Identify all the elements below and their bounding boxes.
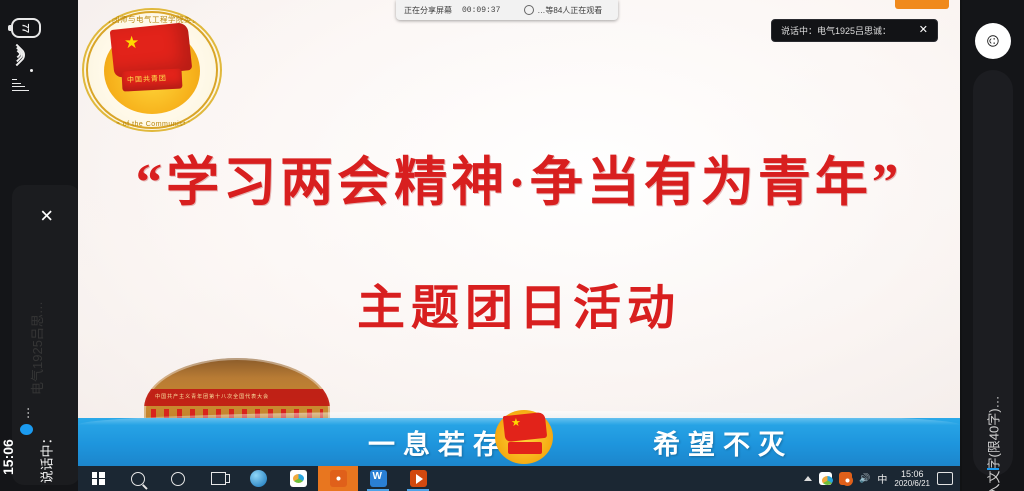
powerpoint-button[interactable]	[398, 466, 438, 491]
windows-logo-icon	[92, 472, 105, 485]
speaking-toast[interactable]: 说话中：电气1925吕思诚： ✕	[771, 19, 938, 42]
taskbar-clock[interactable]: 15:06 2020/6/21	[894, 469, 930, 489]
shared-screen-slide: 共青团师与电气工程学院委员会 ★ 中国共青团 Committee of the …	[78, 0, 960, 466]
security-icon[interactable]	[839, 472, 852, 485]
cyl-emblem-logo: 共青团师与电气工程学院委员会 ★ 中国共青团 Committee of the …	[82, 8, 222, 132]
cortana-button[interactable]	[158, 466, 198, 491]
task-view-button[interactable]	[198, 466, 238, 491]
task-view-icon	[211, 472, 226, 485]
emblem-chinese-arc-text: 共青团师与电气工程学院委员会	[82, 14, 222, 25]
slide-bottom-banner: 一息若存 ★ 希望不灭	[78, 418, 960, 466]
comment-input[interactable]: 输入文字(限40字)…	[973, 70, 1013, 476]
screen-root: 77 ✕ 说话中： ⋯ 15:06 电气1925吕思… 共青团师与电气工程学院委…	[0, 0, 1024, 491]
wifi-icon	[10, 48, 36, 74]
banner-right-text: 希望不灭	[653, 423, 793, 462]
more-dots-icon: ⋯	[21, 405, 35, 419]
meeting-app-button[interactable]	[318, 466, 358, 491]
sharing-status-label: 正在分享屏幕	[404, 5, 452, 16]
phone-status-icons: 77	[2, 8, 46, 118]
speaking-toast-text: 说话中：电气1925吕思诚：	[781, 24, 891, 37]
emoji-smiley-icon[interactable]: ☺	[975, 23, 1011, 59]
emblem-banner: 中国共青团	[122, 68, 183, 91]
powerpoint-icon	[410, 470, 427, 487]
screen-share-toolbar[interactable]: 正在分享屏幕 00:09:37 …等84人正在观看	[396, 0, 618, 20]
cortana-circle-icon	[171, 472, 185, 486]
start-button[interactable]	[78, 466, 118, 491]
meeting-app-icon	[330, 470, 347, 487]
search-icon	[131, 472, 145, 486]
photo-red-banner: 中国共产主义青年团第十八次全国代表大会	[144, 389, 330, 407]
comment-input-placeholder: 输入文字(限40字)…	[984, 395, 1003, 491]
right-input-rail: ☺ 输入文字(限40字)…	[962, 0, 1024, 491]
toolbar-action-button[interactable]	[895, 0, 949, 9]
emblem-banner-text: 中国共青团	[127, 73, 167, 85]
taskbar-time: 15:06	[894, 469, 930, 479]
viewers-indicator[interactable]: …等84人正在观看	[524, 5, 602, 16]
chevron-up-icon[interactable]	[804, 476, 812, 481]
search-button[interactable]	[118, 466, 158, 491]
close-icon[interactable]: ✕	[919, 25, 928, 36]
ime-indicator[interactable]: 中	[877, 471, 887, 486]
banner-emblem-icon: ★	[495, 410, 553, 464]
share-timer: 00:09:37	[462, 6, 500, 15]
volume-icon[interactable]: 🔊	[859, 473, 870, 484]
windows-taskbar: 🔊 中 15:06 2020/6/21	[78, 466, 960, 491]
taskbar-date: 2020/6/21	[894, 479, 930, 489]
battery-level: 77	[21, 23, 31, 32]
avatar	[524, 5, 534, 15]
slide-headline: “学习两会精神·争当有为青年”	[78, 140, 960, 216]
cloud-icon[interactable]	[819, 472, 832, 485]
left-status-rail: 77 ✕ 说话中： ⋯ 15:06	[0, 0, 78, 491]
status-dot-icon	[20, 424, 33, 435]
internet-explorer-button[interactable]	[238, 466, 278, 491]
rotated-speaker-name: 电气1925吕思…	[27, 301, 46, 395]
emblem-star-icon: ★	[124, 34, 139, 51]
wps-icon	[370, 470, 387, 487]
close-icon[interactable]: ✕	[38, 208, 55, 222]
wps-office-button[interactable]	[358, 466, 398, 491]
text-caret	[987, 468, 999, 470]
ie-icon	[250, 470, 267, 487]
signal-bars-icon	[12, 79, 34, 109]
battery-icon: 77	[11, 18, 41, 38]
cloud-drive-button[interactable]	[278, 466, 318, 491]
emblem-english-arc-text: Committee of the Communist Youth League	[82, 121, 222, 128]
phone-clock: ⋯ 15:06	[8, 409, 70, 479]
phone-clock-time: 15:06	[0, 439, 16, 475]
slide-subline: 主题团日活动	[78, 268, 960, 338]
notification-icon[interactable]	[937, 472, 953, 485]
banner-left-text: 一息若存	[368, 423, 508, 462]
viewers-label: …等84人正在观看	[537, 5, 602, 16]
photo-banner-text: 中国共产主义青年团第十八次全国代表大会	[155, 393, 269, 400]
cloud-drive-icon	[290, 470, 307, 487]
